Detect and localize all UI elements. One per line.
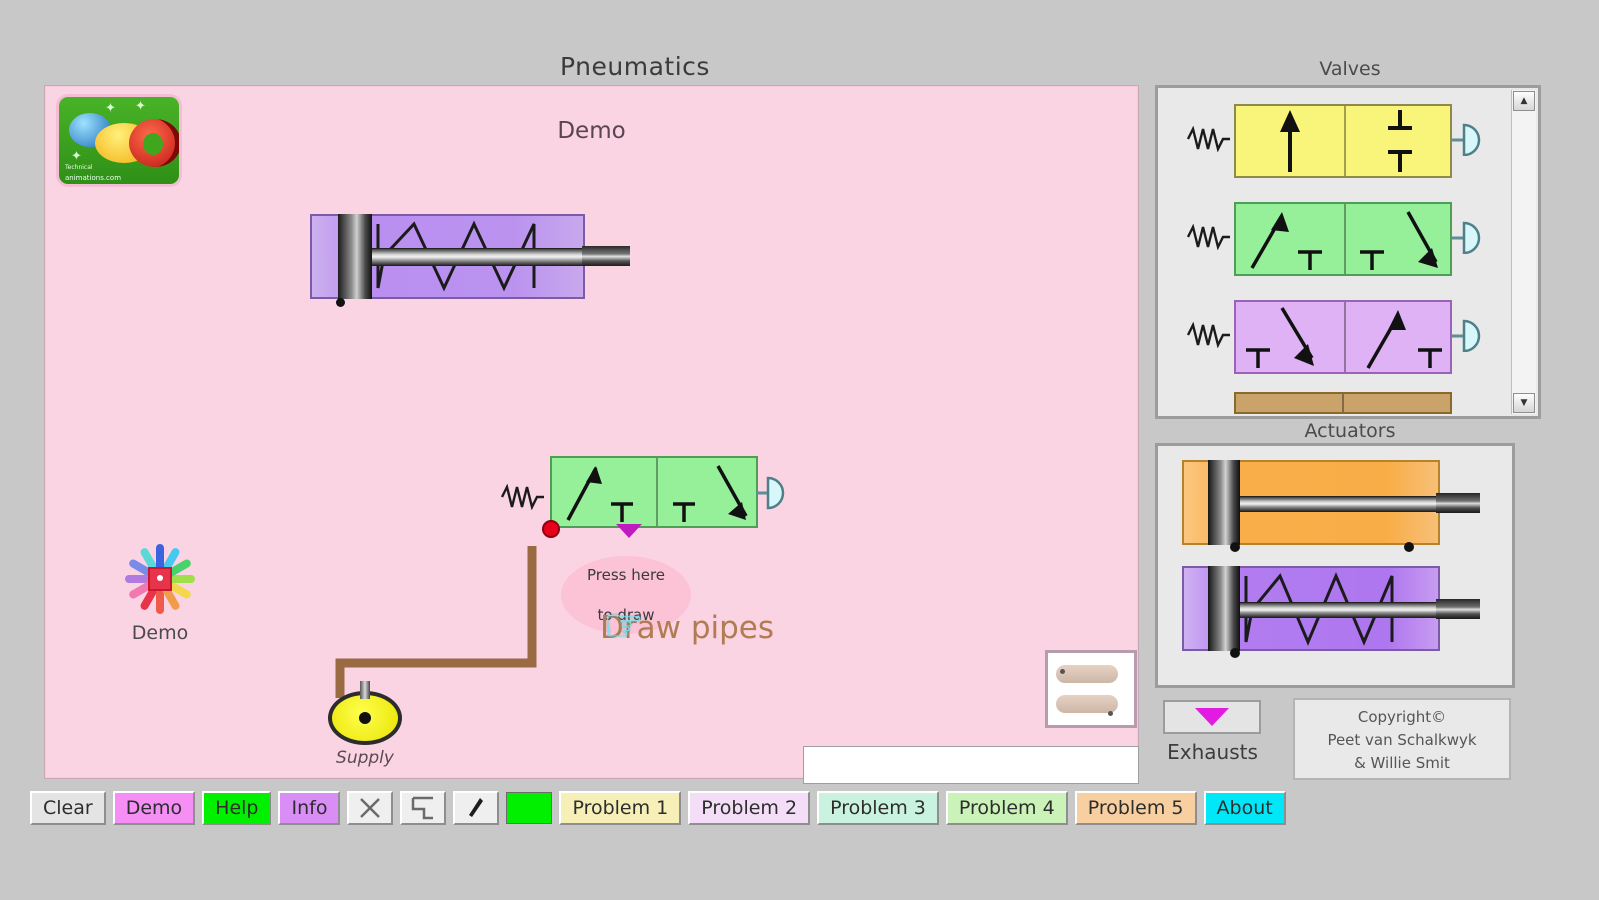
valve-position-a [1236, 204, 1344, 274]
actuators-panel-title: Actuators [1155, 420, 1545, 442]
problem-2-button[interactable]: Problem 2 [688, 791, 810, 825]
actuator-piston [1208, 460, 1240, 545]
problem-4-button[interactable]: Problem 4 [946, 791, 1068, 825]
actuator-rod-tip [1436, 493, 1480, 513]
exhausts-label: Exhausts [1150, 740, 1275, 764]
actuator-spring-return-on-canvas[interactable] [310, 206, 640, 306]
valve-list-item[interactable] [1186, 392, 1486, 414]
valve-list-item[interactable] [1186, 196, 1486, 284]
valve-body-partial[interactable] [1234, 392, 1452, 414]
problem-1-button[interactable]: Problem 1 [559, 791, 681, 825]
copyright-box: Copyright© Peet van Schalkwyk & Willie S… [1293, 698, 1511, 780]
valve-position-b [656, 458, 762, 526]
valve-body-green[interactable] [1234, 202, 1452, 276]
pneumatics-app: Pneumatics Demo ✦ ✦ ✦ Technical animatio… [0, 0, 1599, 900]
copyright-line-1: Copyright© [1295, 706, 1509, 729]
supply-stem [360, 681, 370, 699]
scroll-up-icon[interactable]: ▲ [1513, 91, 1535, 111]
starburst-core [148, 567, 172, 591]
exhausts-button[interactable] [1163, 700, 1261, 734]
supply-icon [328, 691, 402, 745]
about-button[interactable]: About [1204, 791, 1286, 825]
color-swatch-green[interactable] [506, 792, 552, 824]
info-button[interactable]: Info [278, 791, 340, 825]
valve-arrow-diagonal-down [1236, 302, 1344, 372]
exhaust-triangle-icon [616, 524, 642, 538]
exhaust-triangle-icon [1195, 708, 1229, 726]
valves-scrollbar[interactable]: ▲ ▼ [1511, 90, 1536, 414]
supply-label: Supply [310, 748, 420, 768]
toolbar: Clear Demo Help Info Problem 1 Problem 2… [30, 788, 1530, 828]
solenoid-icon [1452, 122, 1482, 156]
valve-arrow-diagonal-up [1346, 302, 1454, 372]
spring-icon [1186, 224, 1232, 250]
valves-panel-title: Valves [1155, 58, 1545, 80]
valve-position-a [1236, 394, 1342, 412]
valve-blocked-ports [1346, 106, 1454, 176]
delete-pipe-icon[interactable] [347, 791, 393, 825]
supply-source[interactable]: Supply [310, 691, 420, 768]
copyright-line-3: & Willie Smit [1295, 752, 1509, 775]
valve-list-item[interactable] [1186, 98, 1486, 186]
starburst-icon [119, 538, 201, 620]
valve-body-yellow[interactable] [1234, 104, 1452, 178]
thumbnail-dot [1108, 711, 1113, 716]
actuator-port-dot[interactable] [1230, 542, 1240, 552]
demo-tool-label: Demo [110, 622, 210, 644]
actuator-port-dot[interactable] [1230, 648, 1240, 658]
page-title: Pneumatics [400, 52, 870, 81]
tooltip-line-1: Press here [587, 565, 665, 585]
actuator-list-item[interactable] [1182, 566, 1482, 651]
solenoid-icon [756, 476, 786, 510]
demo-button[interactable]: Demo [113, 791, 195, 825]
valve-arrow-up [1236, 106, 1344, 176]
valve-position-b [1344, 106, 1454, 176]
cylinder-rod-tip [582, 246, 630, 266]
valve-on-canvas[interactable] [500, 456, 790, 536]
pipe-connection-node[interactable] [542, 520, 560, 538]
valve-arrow-diagonal-up [1236, 204, 1344, 274]
clear-button[interactable]: Clear [30, 791, 106, 825]
pipe-preview-thumbnail[interactable] [1045, 650, 1137, 728]
copyright-line-2: Peet van Schalkwyk [1295, 729, 1509, 752]
pen-tool-icon[interactable] [453, 791, 499, 825]
spring-icon [1186, 126, 1232, 152]
valve-body[interactable] [550, 456, 758, 528]
valve-position-a [552, 458, 656, 526]
valve-position-b [1344, 204, 1454, 274]
valve-arrow-diagonal-down [1346, 204, 1454, 274]
problem-5-button[interactable]: Problem 5 [1075, 791, 1197, 825]
valve-body-purple[interactable] [1234, 300, 1452, 374]
valve-position-a [1236, 106, 1344, 176]
valve-position-a [1236, 302, 1344, 372]
spring-icon [1186, 322, 1232, 348]
drawing-canvas[interactable]: Demo ✦ ✦ ✦ Technical animations.com [44, 85, 1139, 779]
spring-icon [500, 484, 546, 510]
cylinder-port-dot[interactable] [336, 298, 345, 307]
demo-tool[interactable]: Demo [110, 538, 210, 644]
hand-cursor-icon: ☞ [603, 598, 644, 652]
solenoid-icon [1452, 220, 1482, 254]
valve-position-b [1344, 302, 1454, 372]
thumbnail-pipe [1056, 665, 1118, 683]
cylinder-piston [338, 214, 372, 299]
valves-panel[interactable]: ▲ ▼ [1155, 85, 1541, 419]
solenoid-icon [1452, 318, 1482, 352]
actuators-panel[interactable] [1155, 443, 1515, 688]
pipe-corner-icon[interactable] [400, 791, 446, 825]
actuator-rod-tip [1436, 599, 1480, 619]
actuator-port-dot[interactable] [1404, 542, 1414, 552]
problem-3-button[interactable]: Problem 3 [817, 791, 939, 825]
actuator-piston [1208, 566, 1240, 651]
valve-arrow-diagonal-up [552, 458, 656, 526]
help-button[interactable]: Help [202, 791, 271, 825]
valve-position-b [1342, 394, 1450, 412]
valve-list-item[interactable] [1186, 294, 1486, 382]
valve-arrow-diagonal-down [658, 458, 762, 526]
pipe-network [45, 86, 1138, 778]
thumbnail-dot [1060, 669, 1065, 674]
scroll-down-icon[interactable]: ▼ [1513, 393, 1535, 413]
status-text-input[interactable] [803, 746, 1139, 784]
actuator-list-item[interactable] [1182, 460, 1482, 545]
